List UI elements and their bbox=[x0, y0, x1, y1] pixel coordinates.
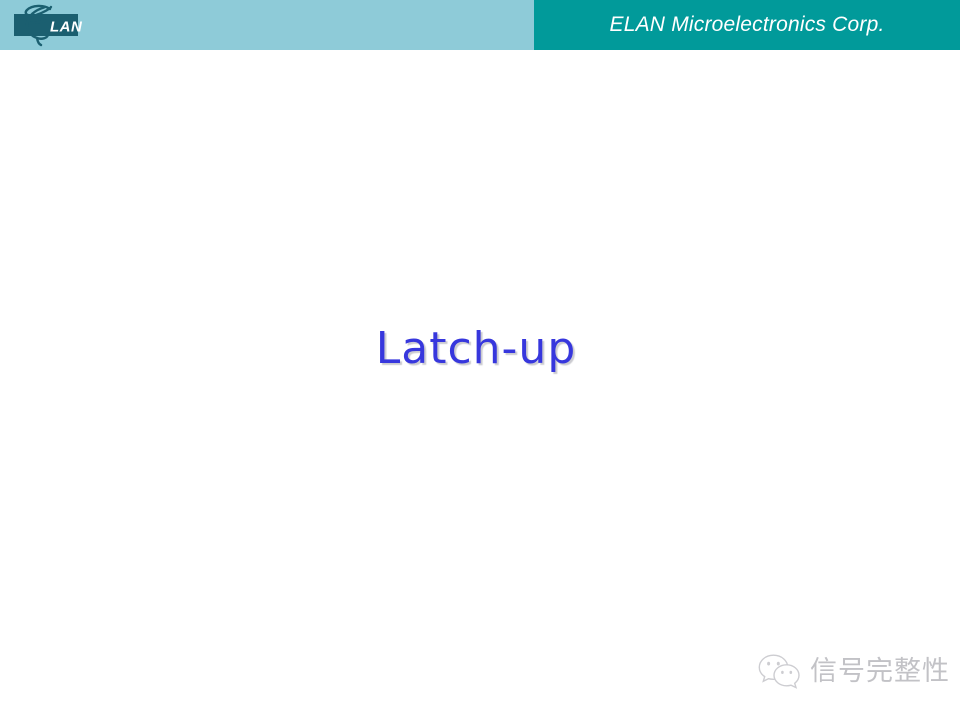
slide-title-area: Latch-up bbox=[0, 318, 960, 378]
elan-logo: LAN bbox=[10, 3, 90, 47]
watermark: 信号完整性 bbox=[757, 652, 950, 690]
page-title: Latch-up bbox=[376, 323, 577, 374]
slide-header: ELAN Microelectronics Corp. LAN bbox=[0, 0, 960, 50]
wechat-icon bbox=[757, 652, 801, 690]
elan-logo-icon: LAN bbox=[10, 3, 90, 47]
watermark-label: 信号完整性 bbox=[810, 658, 950, 685]
company-title: ELAN Microelectronics Corp. bbox=[534, 0, 960, 50]
slide-canvas: ELAN Microelectronics Corp. LAN Latch-up bbox=[0, 0, 960, 720]
svg-text:LAN: LAN bbox=[50, 19, 83, 36]
